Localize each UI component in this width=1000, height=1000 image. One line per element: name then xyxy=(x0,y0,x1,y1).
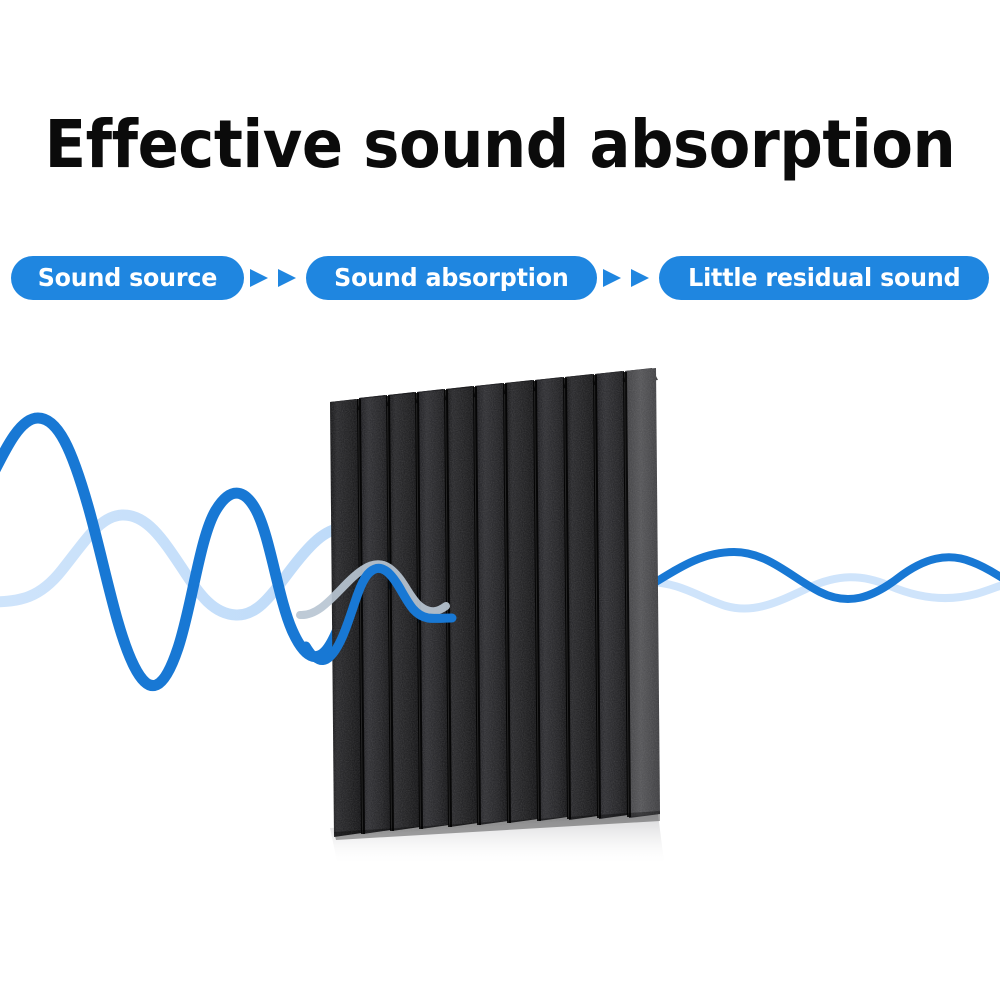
foam-panel-graphic xyxy=(308,366,680,866)
pill-little-residual-sound[interactable]: Little residual sound xyxy=(659,256,990,300)
process-flow-row: Sound source Sound absorption Little res… xyxy=(0,255,1000,301)
double-chevron-right-icon-1 xyxy=(244,256,306,300)
pill-sound-absorption-label: Sound absorption xyxy=(334,256,568,300)
acoustic-foam-panel xyxy=(320,378,660,833)
double-chevron-right-icon-2 xyxy=(597,256,659,300)
infographic-canvas: Effective sound absorption Sound source … xyxy=(0,0,1000,1000)
pill-sound-source[interactable]: Sound source xyxy=(11,256,244,300)
foam-wedge-group xyxy=(330,368,660,840)
foam-wedge xyxy=(330,399,362,837)
sound-absorption-illustration xyxy=(0,330,1000,930)
page-title: Effective sound absorption xyxy=(40,106,960,184)
pill-little-residual-sound-label: Little residual sound xyxy=(688,256,960,300)
pill-sound-source-label: Sound source xyxy=(38,256,217,300)
pill-sound-absorption[interactable]: Sound absorption xyxy=(306,256,597,300)
